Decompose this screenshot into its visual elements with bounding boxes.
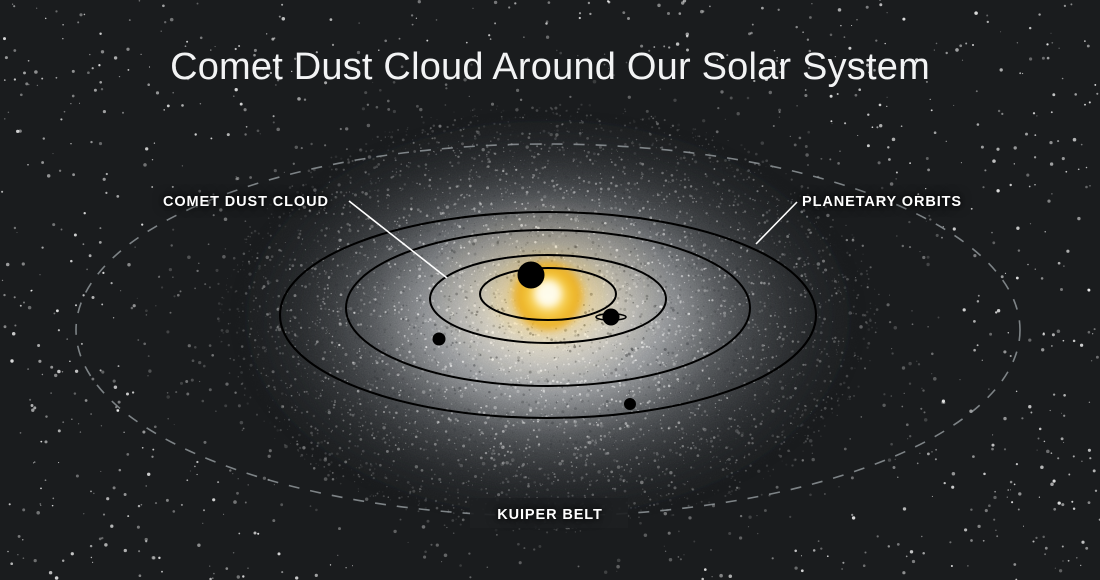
planet-large-inner [518,262,545,289]
label-planetary-orbits: PLANETARY ORBITS [802,194,962,210]
label-kuiper-belt: KUIPER BELT [0,507,1100,523]
diagram-canvas [0,0,1100,580]
sun [430,204,666,388]
label-comet-dust-cloud: COMET DUST CLOUD [163,194,329,210]
planet-mid [433,333,446,346]
solar-system-diagram: Comet Dust Cloud Around Our Solar System… [0,0,1100,580]
planet-outer [624,398,636,410]
